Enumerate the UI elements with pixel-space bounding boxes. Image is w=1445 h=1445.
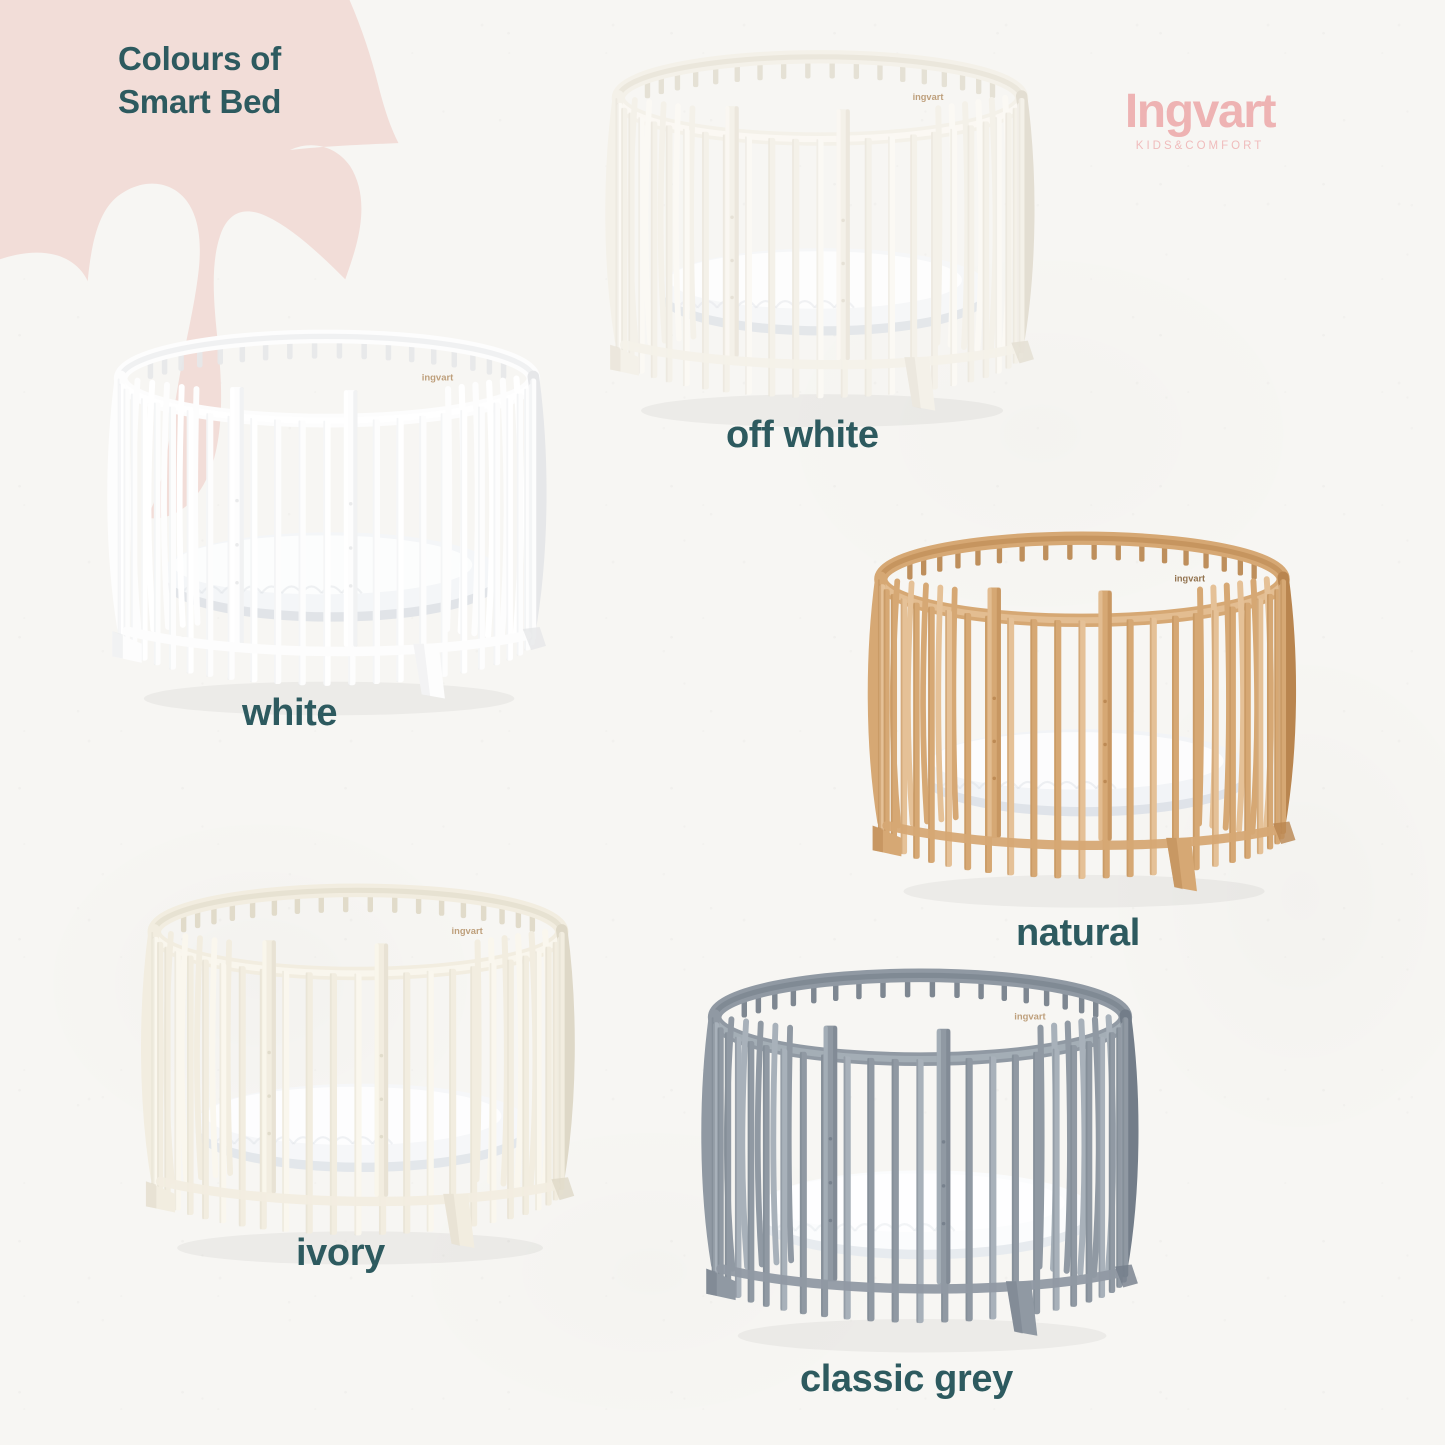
- poster-canvas: Colours of Smart Bed Ingvart KIDS&COMFOR…: [0, 0, 1445, 1445]
- svg-text:ingvart: ingvart: [913, 92, 944, 102]
- page-title-line-2: Smart Bed: [118, 81, 281, 124]
- crib-image-classic-grey[interactable]: ingvart: [700, 966, 1140, 1366]
- crib-image-off-white[interactable]: ingvart: [604, 48, 1036, 440]
- svg-text:ingvart: ingvart: [452, 926, 483, 936]
- page-title: Colours of Smart Bed: [118, 38, 281, 124]
- brand-logo-wordmark: Ingvart: [1085, 88, 1315, 136]
- crib-image-white[interactable]: ingvart: [92, 328, 562, 728]
- brand-logo: Ingvart KIDS&COMFORT: [1085, 88, 1315, 152]
- svg-text:ingvart: ingvart: [422, 373, 454, 384]
- crib-image-ivory[interactable]: ingvart: [128, 882, 588, 1277]
- svg-text:ingvart: ingvart: [1014, 1010, 1046, 1021]
- crib-label-natural: natural: [1016, 912, 1140, 955]
- svg-text:ingvart: ingvart: [1174, 573, 1205, 583]
- brand-logo-tagline: KIDS&COMFORT: [1085, 140, 1315, 152]
- page-title-line-1: Colours of: [118, 38, 281, 81]
- crib-label-classic-grey: classic grey: [800, 1358, 1013, 1401]
- crib-image-natural[interactable]: ingvart: [862, 530, 1302, 920]
- crib-label-white: white: [242, 692, 337, 735]
- crib-label-ivory: ivory: [296, 1232, 385, 1275]
- crib-label-off-white: off white: [726, 414, 879, 457]
